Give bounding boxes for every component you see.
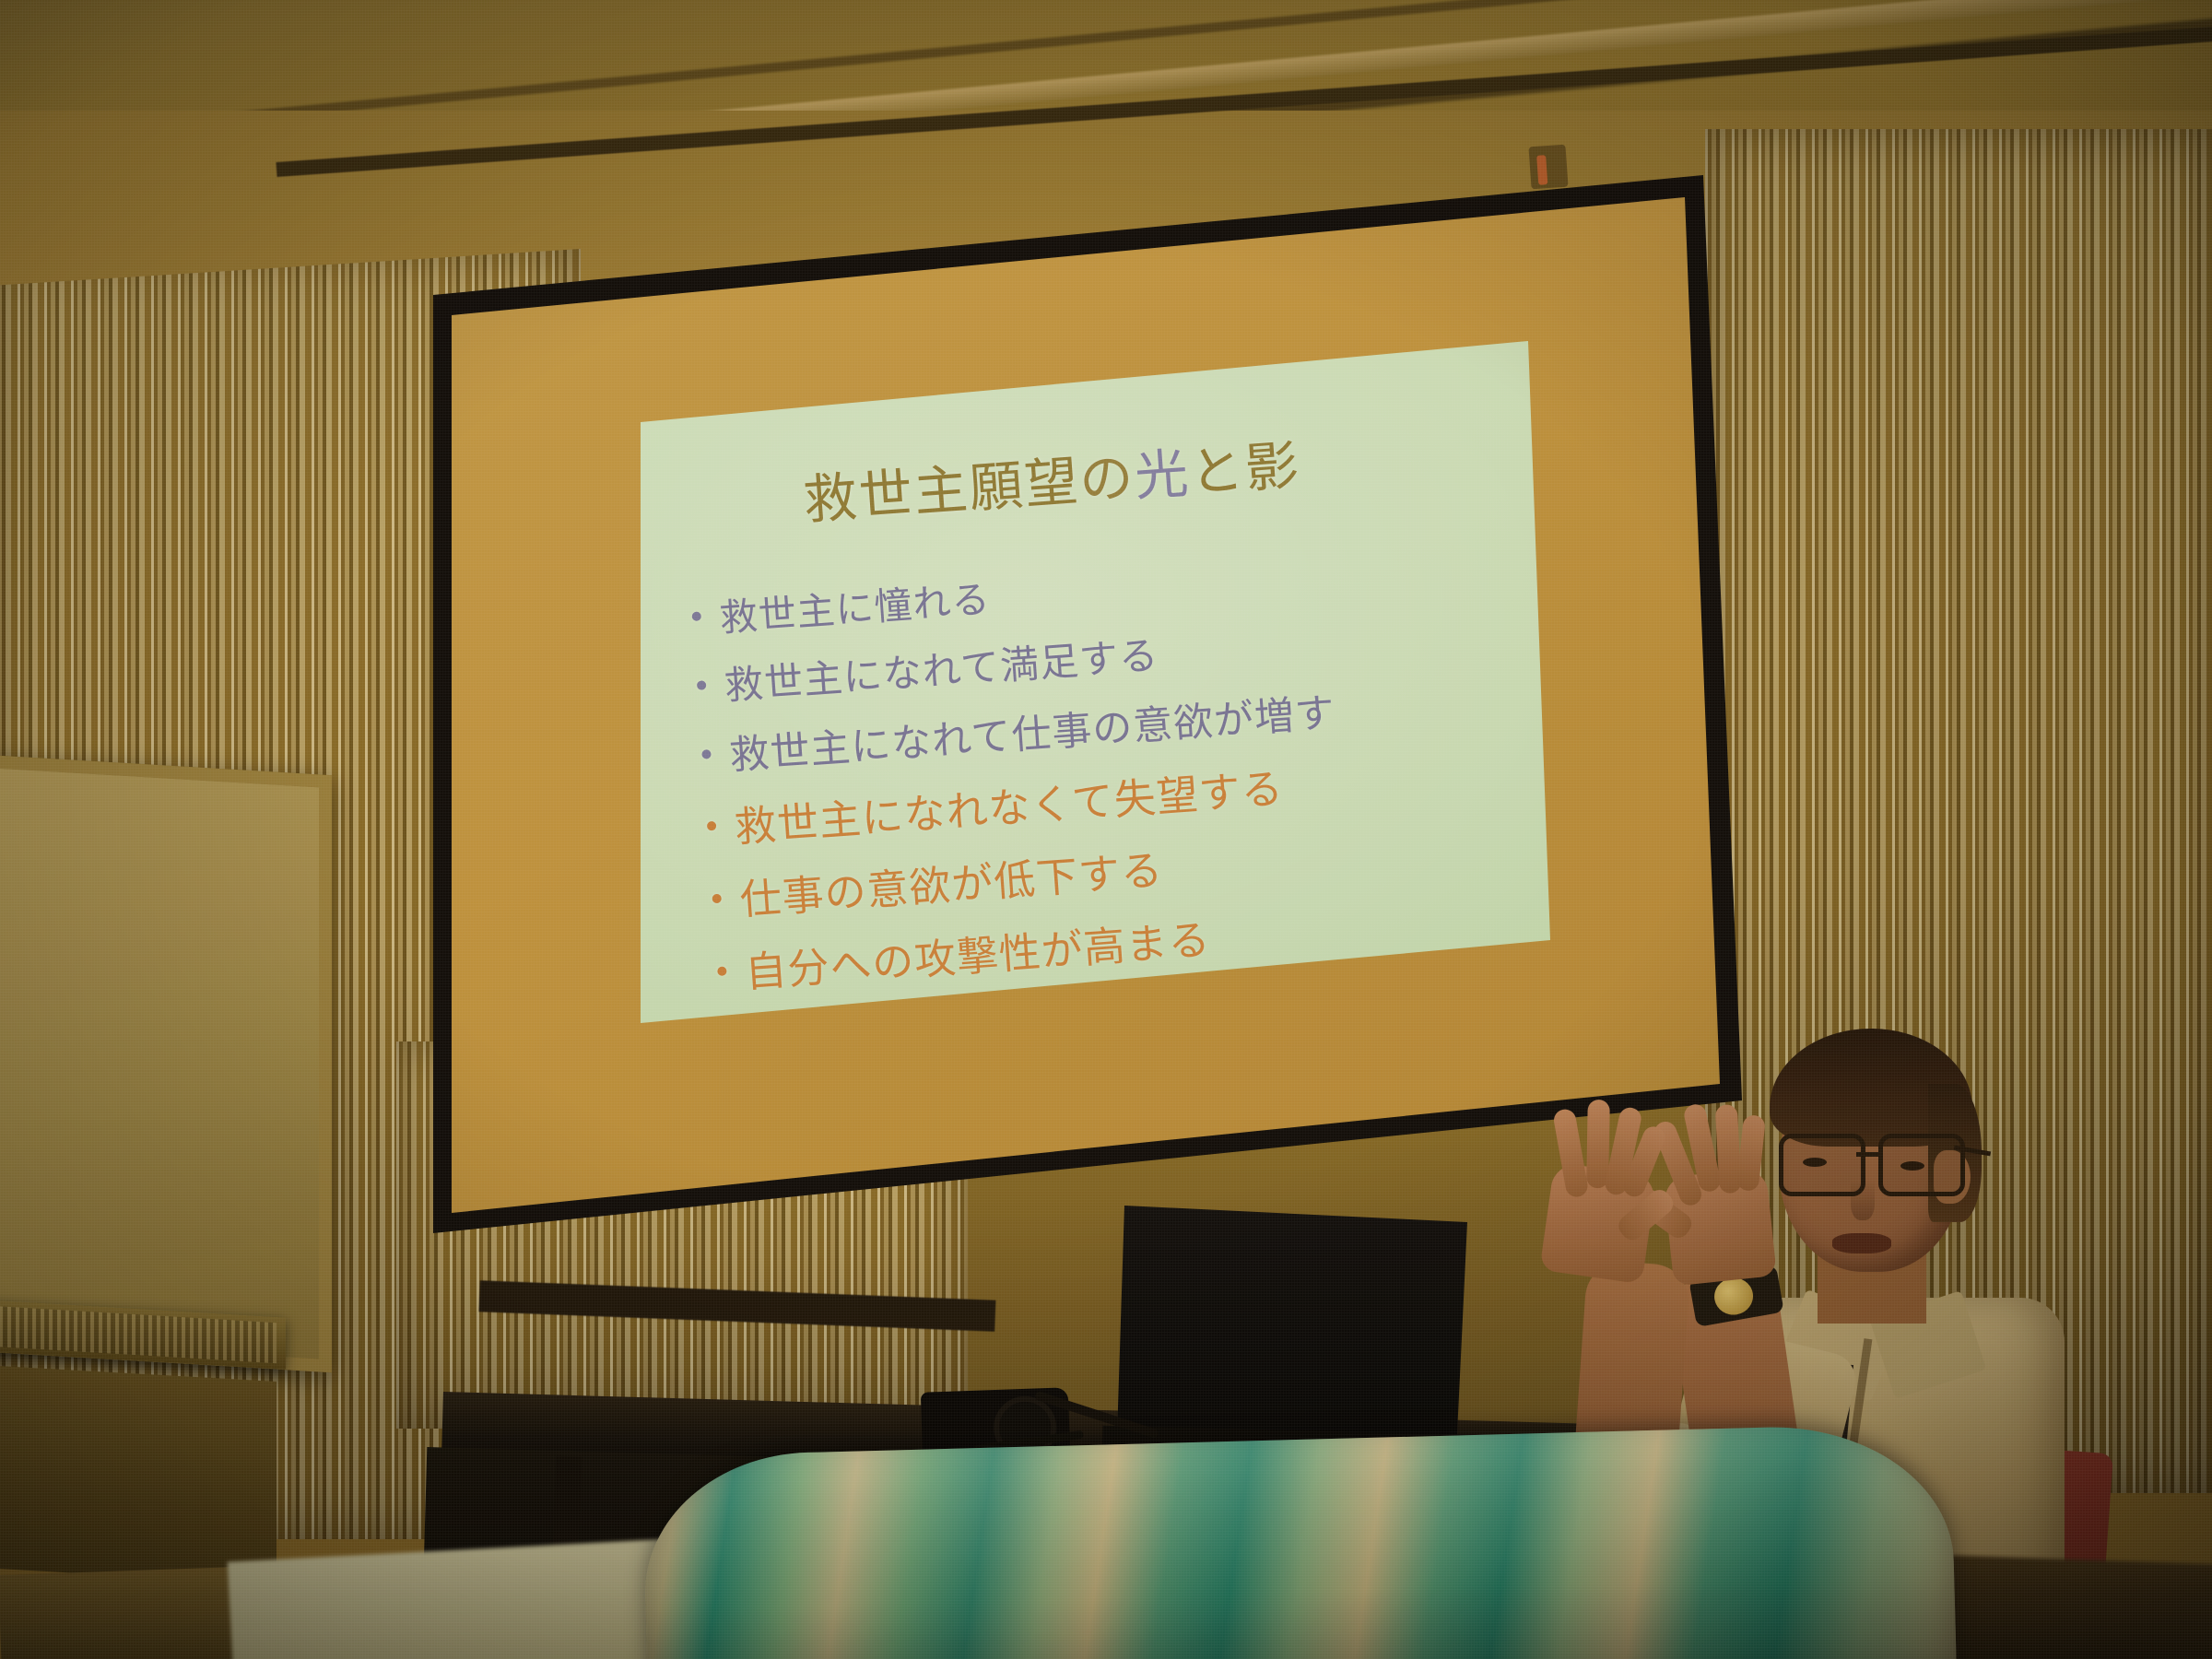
slide-title-part-1: 救世主願望: [802, 452, 1082, 531]
projection-screen: 救世主願望の光と影 救世主に憧れる 救世主になれて満足する 救世主になれて仕事の…: [415, 175, 1779, 1263]
bullet-dot-icon: [697, 680, 707, 690]
presenter-hand-right: [1663, 1167, 1777, 1286]
slide-content: 救世主願望の光と影 救世主に憧れる 救世主になれて満足する 救世主になれて仕事の…: [645, 286, 1594, 1021]
laptop-screen-back: [1117, 1206, 1477, 1453]
bullet-dot-icon: [712, 893, 722, 903]
bullet-dot-icon: [701, 749, 712, 759]
slide-title-part-2: の: [1077, 447, 1137, 511]
presenter-hand-left: [1539, 1162, 1656, 1284]
slide-bullet-1-text: 救世主に憧れる: [718, 568, 993, 642]
cushion-shading: [641, 1422, 1957, 1659]
bullet-dot-icon: [717, 966, 727, 976]
glasses-lens-left: [1779, 1134, 1865, 1196]
bullet-dot-icon: [707, 820, 717, 830]
whiteboard-surface: [0, 769, 319, 1359]
glasses-icon: [1775, 1134, 1972, 1191]
low-cabinet: [0, 1365, 276, 1584]
whiteboard: [0, 755, 332, 1372]
glasses-bridge: [1856, 1152, 1880, 1157]
striped-cushion: [641, 1422, 1957, 1659]
slide-title: 救世主願望の光と影: [801, 422, 1303, 535]
bullet-dot-icon: [691, 611, 701, 621]
tray-ridges: [0, 1306, 276, 1363]
glasses-lens-right: [1878, 1134, 1965, 1196]
finger: [1736, 1114, 1766, 1192]
photo-scene: 救世主願望の光と影 救世主に憧れる 救世主になれて満足する 救世主になれて仕事の…: [0, 0, 2212, 1659]
slide-title-part-4: と影: [1188, 436, 1302, 503]
slide-bullet-list: 救世主に憧れる 救世主になれて満足する 救世主になれて仕事の意欲が増す 救世主に…: [690, 526, 1604, 1014]
slide-title-part-3: 光: [1133, 443, 1193, 507]
presenter-mouth: [1832, 1233, 1891, 1253]
